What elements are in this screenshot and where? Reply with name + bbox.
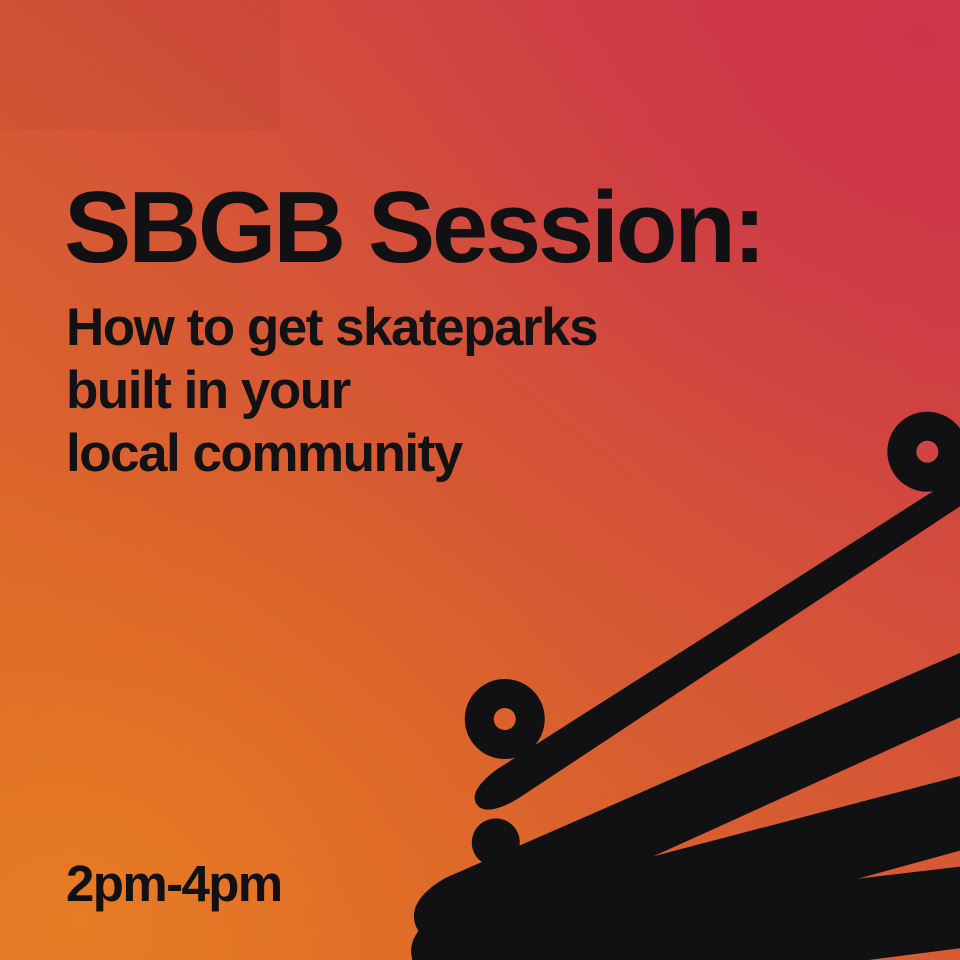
- subtitle-line-1: How to get skateparks: [66, 296, 597, 359]
- subtitle-line-2: built in your: [66, 359, 597, 422]
- event-time: 2pm-4pm: [66, 858, 282, 909]
- poster-text: SBGB Session: How to get skateparks buil…: [0, 0, 960, 960]
- page-title: SBGB Session:: [64, 178, 763, 279]
- subtitle-line-3: local community: [66, 422, 597, 485]
- poster-canvas: SBGB Session: How to get skateparks buil…: [0, 0, 960, 960]
- subtitle: How to get skateparks built in your loca…: [66, 296, 597, 485]
